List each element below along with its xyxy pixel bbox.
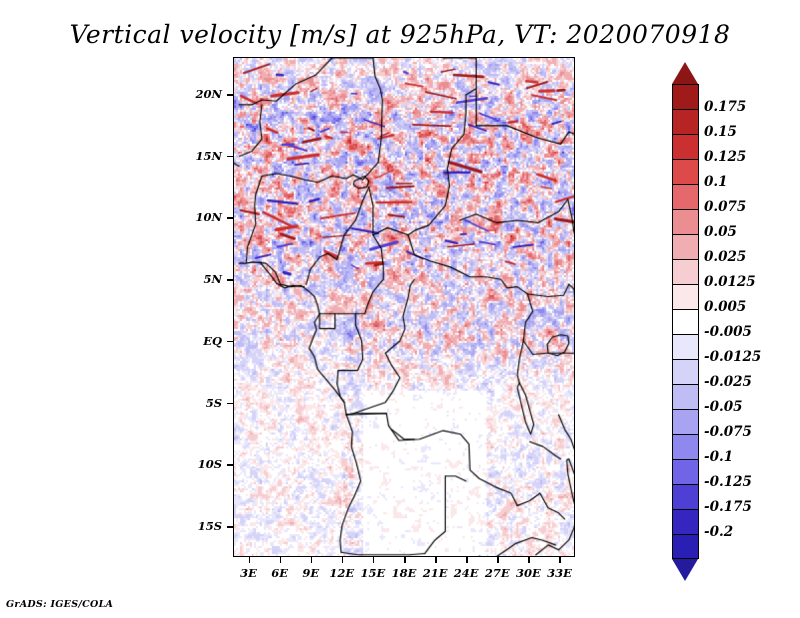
colorbar-tick-label: 0.0125 bbox=[704, 274, 794, 290]
y-axis-tick bbox=[227, 217, 233, 219]
colorbar-tick-label: -0.005 bbox=[704, 324, 794, 340]
colorbar-tick-label: 0.175 bbox=[704, 99, 794, 115]
vertical-velocity-heatmap bbox=[234, 58, 574, 556]
y-axis-tick bbox=[227, 279, 233, 281]
grads-attribution: GrADS: IGES/COLA bbox=[6, 599, 113, 610]
y-axis-label: 5S bbox=[178, 396, 222, 410]
colorbar-segment bbox=[672, 134, 699, 159]
colorbar-tick-label: -0.0125 bbox=[704, 349, 794, 365]
colorbar-segment bbox=[672, 484, 699, 509]
colorbar-segment bbox=[672, 284, 699, 309]
y-axis-label: 10S bbox=[178, 457, 222, 471]
colorbar-segment bbox=[672, 309, 699, 334]
y-axis-tick bbox=[227, 94, 233, 96]
colorbar-segment bbox=[672, 334, 699, 359]
y-axis-label: EQ bbox=[178, 334, 222, 348]
colorbar-segment bbox=[672, 434, 699, 459]
colorbar-tick-label: 0.125 bbox=[704, 149, 794, 165]
colorbar-tick-label: -0.1 bbox=[704, 449, 794, 465]
colorbar-tick-label: 0.075 bbox=[704, 199, 794, 215]
y-axis-tick bbox=[227, 341, 233, 343]
colorbar-tick-label: 0.15 bbox=[704, 124, 794, 140]
x-axis-tick bbox=[435, 557, 437, 563]
colorbar-segment bbox=[672, 109, 699, 134]
colorbar-segment bbox=[672, 84, 699, 109]
y-axis-label: 15N bbox=[178, 149, 222, 163]
colorbar-segment bbox=[672, 359, 699, 384]
page-title: Vertical velocity [m/s] at 925hPa, VT: 2… bbox=[0, 20, 800, 49]
y-axis-label: 15S bbox=[178, 519, 222, 533]
colorbar-segment bbox=[672, 409, 699, 434]
x-axis-tick bbox=[466, 557, 468, 563]
x-axis-tick bbox=[404, 557, 406, 563]
colorbar-tick-label: -0.2 bbox=[704, 524, 794, 540]
colorbar-segment bbox=[672, 459, 699, 484]
y-axis-label: 5N bbox=[178, 272, 222, 286]
x-axis-tick bbox=[497, 557, 499, 563]
colorbar-segment bbox=[672, 184, 699, 209]
colorbar-min-arrow bbox=[672, 559, 698, 581]
colorbar-segment bbox=[672, 259, 699, 284]
colorbar-max-arrow bbox=[672, 62, 698, 84]
y-axis-tick bbox=[227, 464, 233, 466]
colorbar-tick-label: -0.025 bbox=[704, 374, 794, 390]
colorbar-tick-label: -0.075 bbox=[704, 424, 794, 440]
colorbar-segment bbox=[672, 234, 699, 259]
colorbar-tick-label: 0.025 bbox=[704, 249, 794, 265]
colorbar-tick-label: -0.05 bbox=[704, 399, 794, 415]
x-axis-label: 33E bbox=[539, 566, 579, 580]
colorbar-segment bbox=[672, 209, 699, 234]
map-plot-area bbox=[233, 57, 575, 557]
colorbar bbox=[672, 62, 699, 560]
colorbar-segment bbox=[672, 534, 699, 559]
y-axis-tick bbox=[227, 526, 233, 528]
colorbar-segment bbox=[672, 159, 699, 184]
colorbar-tick-label: -0.125 bbox=[704, 474, 794, 490]
x-axis-tick bbox=[559, 557, 561, 563]
colorbar-tick-label: 0.005 bbox=[704, 299, 794, 315]
y-axis-label: 10N bbox=[178, 210, 222, 224]
x-axis-tick bbox=[249, 557, 251, 563]
x-axis-tick bbox=[311, 557, 313, 563]
colorbar-tick-label: 0.1 bbox=[704, 174, 794, 190]
colorbar-segment bbox=[672, 509, 699, 534]
y-axis-tick bbox=[227, 403, 233, 405]
x-axis-tick bbox=[342, 557, 344, 563]
x-axis-tick bbox=[280, 557, 282, 563]
y-axis-tick bbox=[227, 156, 233, 158]
y-axis-label: 20N bbox=[178, 87, 222, 101]
x-axis-tick bbox=[373, 557, 375, 563]
colorbar-segment bbox=[672, 384, 699, 409]
colorbar-tick-label: 0.05 bbox=[704, 224, 794, 240]
x-axis-tick bbox=[528, 557, 530, 563]
colorbar-tick-label: -0.175 bbox=[704, 499, 794, 515]
